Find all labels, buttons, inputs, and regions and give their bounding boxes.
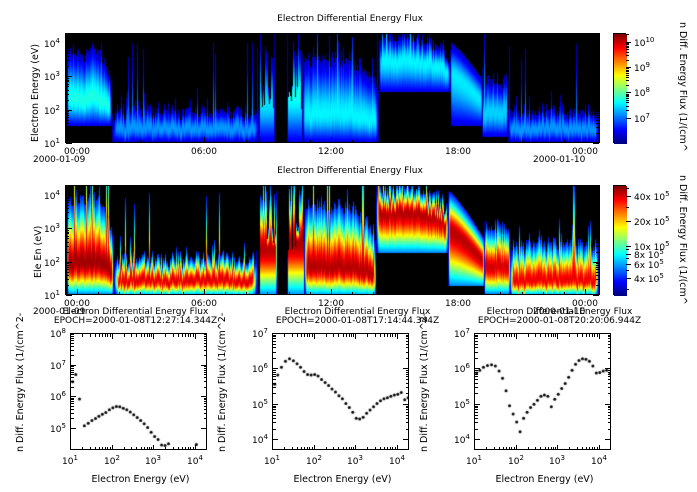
axis-tick	[626, 196, 631, 197]
axis-tick	[183, 140, 184, 143]
axis-tick	[475, 393, 478, 394]
axis-tick	[71, 418, 74, 419]
axis-tick	[596, 200, 599, 201]
axis-tick	[599, 334, 600, 339]
axis-tick	[66, 110, 72, 111]
axis-tick	[338, 447, 339, 450]
axis-tick	[66, 228, 72, 229]
axis-tick	[596, 205, 599, 206]
axis-tick	[626, 46, 629, 47]
axis-tick	[626, 73, 629, 74]
spectrogram-mid-plot-area	[65, 185, 600, 295]
axis-tick	[608, 335, 611, 336]
axis-tick	[596, 208, 599, 209]
axis-tick	[201, 365, 206, 366]
axis-tick	[596, 285, 599, 286]
axis-tick	[185, 334, 186, 337]
axis-tick	[437, 34, 438, 37]
axis-tick	[71, 401, 74, 402]
axis-tick	[144, 447, 145, 450]
axis-tick	[71, 403, 74, 404]
axis-tick	[475, 406, 478, 407]
axis-tick	[110, 447, 111, 450]
axis-tick	[204, 387, 207, 388]
axis-tick	[346, 447, 347, 450]
axis-tick	[204, 374, 207, 375]
axis-tick	[509, 447, 510, 450]
axis-tick	[475, 422, 478, 423]
axis-tick	[70, 334, 71, 339]
axis-tick	[406, 352, 409, 353]
axis-tick	[66, 76, 72, 77]
axis-tick	[273, 344, 276, 345]
axis-tick	[474, 445, 475, 450]
axis-tick	[626, 70, 629, 71]
axis-tick	[626, 77, 629, 78]
axis-tick	[204, 334, 207, 335]
axis-tick	[458, 34, 459, 40]
axis-tick	[112, 445, 113, 450]
axis-tick	[608, 358, 611, 359]
axis-tick	[161, 34, 162, 37]
axis-tick	[626, 246, 631, 247]
axis-tick	[596, 127, 599, 128]
axis-tick	[500, 140, 501, 143]
axis-tick	[66, 50, 69, 51]
axis-tick	[540, 334, 541, 337]
axis-tick	[596, 269, 599, 270]
axis-tick	[596, 84, 599, 85]
spectrum-left-plot-area	[70, 333, 207, 450]
axis-tick-label: 104	[591, 454, 607, 467]
axis-tick	[394, 186, 395, 189]
axis-tick	[173, 334, 174, 337]
axis-tick	[66, 60, 69, 61]
axis-tick	[373, 140, 374, 143]
axis-tick	[458, 186, 459, 192]
axis-tick	[66, 46, 69, 47]
axis-tick	[273, 412, 276, 413]
axis-tick	[66, 56, 69, 57]
axis-tick	[204, 406, 207, 407]
axis-tick	[626, 75, 629, 76]
axis-tick	[387, 334, 388, 337]
axis-tick	[66, 205, 69, 206]
axis-tick-label: 103	[44, 70, 60, 83]
axis-tick	[66, 84, 69, 85]
axis-tick-label: 107	[252, 327, 268, 340]
axis-tick	[71, 334, 74, 335]
axis-tick	[494, 447, 495, 450]
axis-tick	[626, 68, 629, 69]
axis-tick	[204, 403, 207, 404]
axis-tick	[596, 66, 599, 67]
axis-tick	[161, 186, 162, 189]
axis-tick	[66, 123, 69, 124]
axis-tick	[475, 336, 478, 337]
axis-tick	[338, 334, 339, 337]
axis-tick	[333, 447, 334, 450]
axis-tick	[353, 334, 354, 337]
axis-tick	[71, 399, 74, 400]
axis-tick	[475, 439, 480, 440]
axis-tick	[124, 447, 125, 450]
axis-tick	[384, 447, 385, 450]
axis-tick-label: 10x 105	[634, 240, 670, 253]
axis-tick	[596, 86, 599, 87]
axis-tick	[141, 447, 142, 450]
axis-tick	[66, 295, 72, 296]
axis-tick	[273, 372, 276, 373]
axis-tick	[141, 334, 142, 337]
axis-tick	[267, 186, 268, 189]
axis-tick-label: 102	[104, 454, 120, 467]
axis-tick	[204, 409, 207, 410]
axis-tick	[204, 398, 207, 399]
axis-tick	[503, 334, 504, 337]
axis-tick	[535, 334, 536, 337]
axis-tick	[204, 381, 207, 382]
axis-tick	[204, 413, 207, 414]
axis-tick	[596, 50, 599, 51]
axis-tick	[596, 230, 599, 231]
axis-tick	[309, 334, 310, 337]
axis-tick	[71, 387, 74, 388]
axis-tick	[190, 447, 191, 450]
axis-tick	[284, 334, 285, 337]
axis-tick	[626, 43, 629, 44]
axis-tick	[273, 407, 276, 408]
axis-tick	[183, 292, 184, 295]
axis-tick	[193, 447, 194, 450]
axis-tick	[626, 98, 629, 99]
axis-tick	[555, 334, 556, 337]
axis-tick	[553, 334, 554, 337]
spectrum-left-ylabel: n Diff. Energy Flux (1/(cm^2-	[15, 313, 26, 452]
axis-tick	[178, 447, 179, 450]
axis-tick	[626, 188, 629, 189]
axis-tick	[149, 334, 150, 337]
axis-tick	[273, 347, 276, 348]
axis-tick	[66, 200, 69, 201]
axis-tick	[597, 334, 598, 337]
axis-tick	[543, 186, 544, 189]
axis-tick	[596, 242, 599, 243]
spectrum-mid-epoch: EPOCH=2000-01-08T17:14:44.344Z	[250, 316, 465, 326]
axis-tick	[589, 447, 590, 450]
axis-tick	[66, 115, 69, 116]
axis-tick	[304, 334, 305, 337]
axis-tick	[608, 379, 611, 380]
axis-tick	[289, 292, 290, 295]
axis-tick	[107, 447, 108, 450]
axis-tick	[153, 334, 154, 339]
axis-tick	[66, 66, 69, 67]
axis-tick	[352, 34, 353, 37]
axis-tick	[596, 232, 599, 233]
axis-tick	[82, 334, 83, 337]
axis-tick	[626, 221, 631, 222]
axis-tick	[582, 447, 583, 450]
axis-tick	[522, 292, 523, 295]
axis-tick	[71, 409, 74, 410]
axis-tick	[98, 140, 99, 143]
axis-tick	[66, 285, 69, 286]
axis-tick	[110, 334, 111, 337]
axis-tick	[514, 334, 515, 337]
axis-tick	[608, 344, 611, 345]
axis-tick	[267, 34, 268, 37]
axis-tick	[71, 374, 74, 375]
axis-tick	[593, 262, 599, 263]
axis-tick	[475, 352, 478, 353]
axis-tick	[66, 218, 69, 219]
spectrogram-mid-colorbar	[613, 185, 626, 295]
axis-tick	[355, 445, 356, 450]
axis-tick	[66, 90, 69, 91]
axis-tick	[273, 404, 278, 405]
axis-tick	[312, 334, 313, 337]
axis-tick	[193, 334, 194, 337]
axis-tick	[626, 100, 629, 101]
axis-tick	[71, 368, 74, 369]
axis-tick	[475, 347, 478, 348]
axis-tick	[406, 393, 409, 394]
axis-tick	[71, 355, 74, 356]
axis-tick	[475, 407, 478, 408]
axis-tick	[77, 289, 78, 295]
axis-tick	[373, 292, 374, 295]
axis-tick	[596, 279, 599, 280]
axis-tick	[605, 333, 610, 334]
axis-tick	[149, 447, 150, 450]
axis-tick	[509, 334, 510, 337]
axis-tick	[225, 34, 226, 37]
axis-tick	[66, 94, 69, 95]
axis-tick	[165, 447, 166, 450]
axis-tick	[307, 334, 308, 337]
axis-tick	[403, 439, 408, 440]
axis-tick	[188, 447, 189, 450]
axis-tick	[599, 445, 600, 450]
axis-tick	[626, 80, 629, 81]
axis-tick	[592, 334, 593, 337]
axis-tick-label: 106	[454, 362, 470, 375]
axis-tick	[373, 34, 374, 37]
axis-tick	[585, 137, 586, 143]
axis-tick	[144, 334, 145, 337]
axis-tick	[511, 447, 512, 450]
axis-tick	[310, 292, 311, 295]
axis-tick-label: 104	[252, 433, 268, 446]
axis-tick	[284, 447, 285, 450]
axis-tick	[119, 292, 120, 295]
axis-tick	[71, 333, 76, 334]
axis-tick	[593, 110, 599, 111]
axis-tick	[626, 118, 631, 119]
axis-tick	[195, 334, 196, 339]
axis-tick	[406, 422, 409, 423]
axis-tick	[71, 406, 74, 407]
axis-tick	[406, 429, 409, 430]
axis-tick	[593, 295, 599, 296]
axis-tick	[397, 334, 398, 339]
axis-tick	[626, 270, 629, 271]
axis-tick	[297, 334, 298, 337]
axis-tick-label: 105	[252, 398, 268, 411]
axis-tick	[390, 447, 391, 450]
axis-tick	[596, 275, 599, 276]
axis-tick	[608, 374, 611, 375]
axis-tick	[626, 34, 629, 35]
axis-tick	[406, 374, 409, 375]
axis-tick	[475, 409, 478, 410]
axis-tick	[437, 292, 438, 295]
axis-tick	[66, 242, 69, 243]
spectrum-right-epoch: EPOCH=2000-01-08T20:20:06.944Z	[452, 316, 667, 326]
axis-tick	[119, 140, 120, 143]
spectrogram-mid-canvas	[66, 186, 600, 295]
axis-tick	[516, 334, 517, 339]
axis-tick	[77, 34, 78, 40]
axis-tick	[153, 445, 154, 450]
axis-tick	[475, 387, 478, 388]
axis-tick	[626, 44, 629, 45]
axis-tick	[608, 393, 611, 394]
axis-tick	[273, 370, 276, 371]
axis-tick	[190, 334, 191, 337]
axis-tick	[204, 418, 207, 419]
axis-tick	[479, 34, 480, 37]
axis-tick	[500, 292, 501, 295]
axis-tick-label: 102	[44, 104, 60, 117]
spectrum-left-epoch: EPOCH=2000-01-08T12:27:14.344Z	[28, 316, 243, 326]
axis-tick	[71, 340, 74, 341]
axis-tick	[380, 447, 381, 450]
axis-tick	[626, 67, 631, 68]
axis-tick	[161, 140, 162, 143]
axis-tick-label: 107	[50, 359, 66, 372]
axis-tick	[406, 415, 409, 416]
axis-tick	[626, 94, 629, 95]
axis-tick	[545, 447, 546, 450]
axis-tick	[626, 92, 631, 93]
spectrum-right-canvas	[475, 334, 611, 450]
axis-tick	[406, 341, 409, 342]
axis-tick	[66, 252, 69, 253]
axis-tick	[626, 85, 629, 86]
axis-tick	[475, 379, 478, 380]
axis-tick	[273, 422, 276, 423]
axis-tick	[173, 447, 174, 450]
axis-tick	[273, 406, 276, 407]
axis-tick	[514, 447, 515, 450]
axis-tick	[475, 370, 478, 371]
axis-tick	[66, 208, 69, 209]
axis-tick-label: 104	[187, 454, 203, 467]
axis-tick	[66, 263, 69, 264]
axis-tick	[608, 429, 611, 430]
axis-tick	[475, 415, 478, 416]
axis-tick	[394, 292, 395, 295]
axis-tick	[66, 81, 69, 82]
axis-tick-label: 105	[454, 398, 470, 411]
axis-tick	[273, 374, 276, 375]
axis-tick-label: 102	[306, 454, 322, 467]
spectrogram-top-canvas	[66, 34, 600, 143]
axis-tick	[596, 113, 599, 114]
axis-tick	[297, 447, 298, 450]
axis-tick-label: 104	[389, 454, 405, 467]
axis-tick	[608, 347, 611, 348]
axis-tick	[95, 334, 96, 337]
axis-tick	[479, 186, 480, 189]
axis-tick	[314, 334, 315, 339]
axis-tick	[66, 45, 69, 46]
axis-tick	[593, 143, 599, 144]
axis-tick-label: 101	[44, 289, 60, 302]
axis-tick	[479, 292, 480, 295]
axis-tick	[272, 334, 273, 339]
axis-tick	[105, 447, 106, 450]
axis-tick	[608, 336, 611, 337]
axis-tick-label: 101	[466, 454, 482, 467]
axis-tick	[608, 407, 611, 408]
axis-tick	[292, 447, 293, 450]
axis-tick	[326, 447, 327, 450]
axis-tick	[475, 335, 478, 336]
axis-tick	[494, 334, 495, 337]
axis-tick	[201, 333, 206, 334]
axis-tick	[596, 60, 599, 61]
axis-tick	[225, 292, 226, 295]
axis-tick	[626, 60, 629, 61]
axis-tick	[77, 137, 78, 143]
axis-tick	[596, 56, 599, 57]
axis-tick	[406, 338, 409, 339]
axis-tick	[301, 447, 302, 450]
axis-tick	[406, 335, 409, 336]
axis-tick	[161, 292, 162, 295]
axis-tick	[626, 49, 629, 50]
spectrum-mid-plot-area	[272, 333, 409, 450]
axis-tick	[437, 186, 438, 189]
axis-tick	[474, 334, 475, 339]
axis-tick-label: 40x 105	[634, 190, 670, 203]
axis-tick	[204, 355, 207, 356]
axis-tick	[182, 447, 183, 450]
axis-tick	[528, 334, 529, 337]
axis-tick	[204, 137, 205, 143]
axis-tick	[70, 445, 71, 450]
axis-tick	[608, 383, 611, 384]
axis-tick	[105, 334, 106, 337]
spectrum-right-plot-area	[474, 333, 611, 450]
axis-tick	[273, 338, 276, 339]
axis-tick	[608, 412, 611, 413]
axis-tick	[596, 81, 599, 82]
axis-tick	[569, 334, 570, 337]
axis-tick	[273, 336, 276, 337]
axis-tick	[392, 447, 393, 450]
axis-tick	[586, 334, 587, 337]
axis-tick	[577, 334, 578, 337]
axis-tick	[475, 341, 478, 342]
axis-tick	[564, 34, 565, 37]
axis-tick	[406, 383, 409, 384]
axis-tick	[82, 447, 83, 450]
axis-tick	[204, 289, 205, 295]
